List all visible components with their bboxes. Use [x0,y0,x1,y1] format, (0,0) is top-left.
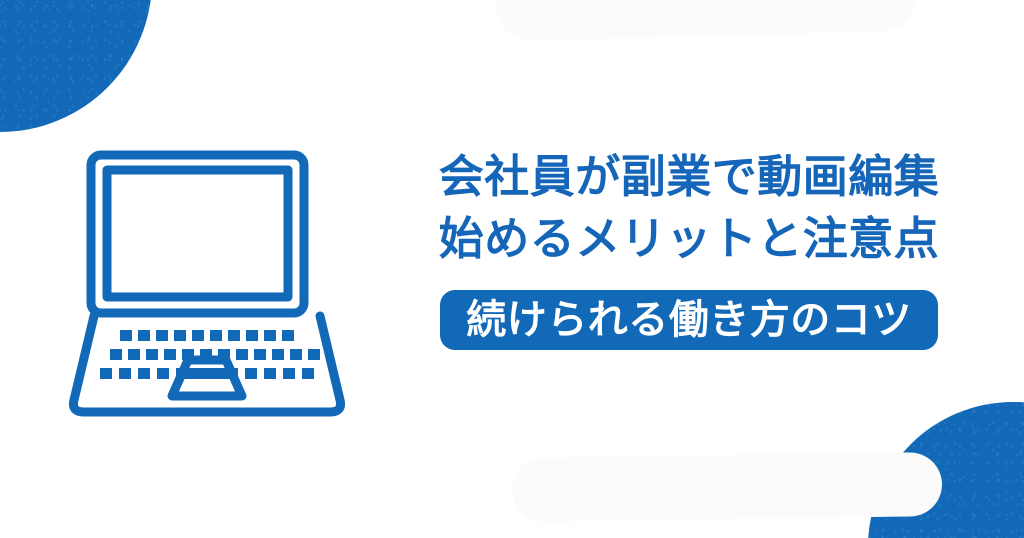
top-left-decorative-circle [0,0,152,132]
laptop-screen-inner-display [107,170,288,297]
eyecatch-canvas: 会社員が副業で動画編集 始めるメリットと注意点 続けられる働き方のコツ [0,0,1024,538]
badge-row: 続けられる働き方のコツ [404,290,974,350]
top-decorative-blob [495,0,917,42]
laptop-screen-outer-bezel [91,155,304,313]
laptop-spacebar [176,368,238,379]
laptop-icon-svg [62,138,352,423]
subtitle-badge: 続けられる働き方のコツ [440,290,938,350]
headline-line-2: 始めるメリットと注意点 [404,208,974,270]
page-title: 会社員が副業で動画編集 始めるメリットと注意点 [404,146,974,270]
laptop-base-group [73,316,340,412]
laptop-keyboard-keys [100,330,320,379]
headline-line-1: 会社員が副業で動画編集 [404,146,974,208]
text-block: 会社員が副業で動画編集 始めるメリットと注意点 続けられる働き方のコツ [404,146,974,350]
laptop-icon [62,138,352,423]
laptop-screen-group [91,155,304,313]
bottom-decorative-blob [512,452,943,522]
